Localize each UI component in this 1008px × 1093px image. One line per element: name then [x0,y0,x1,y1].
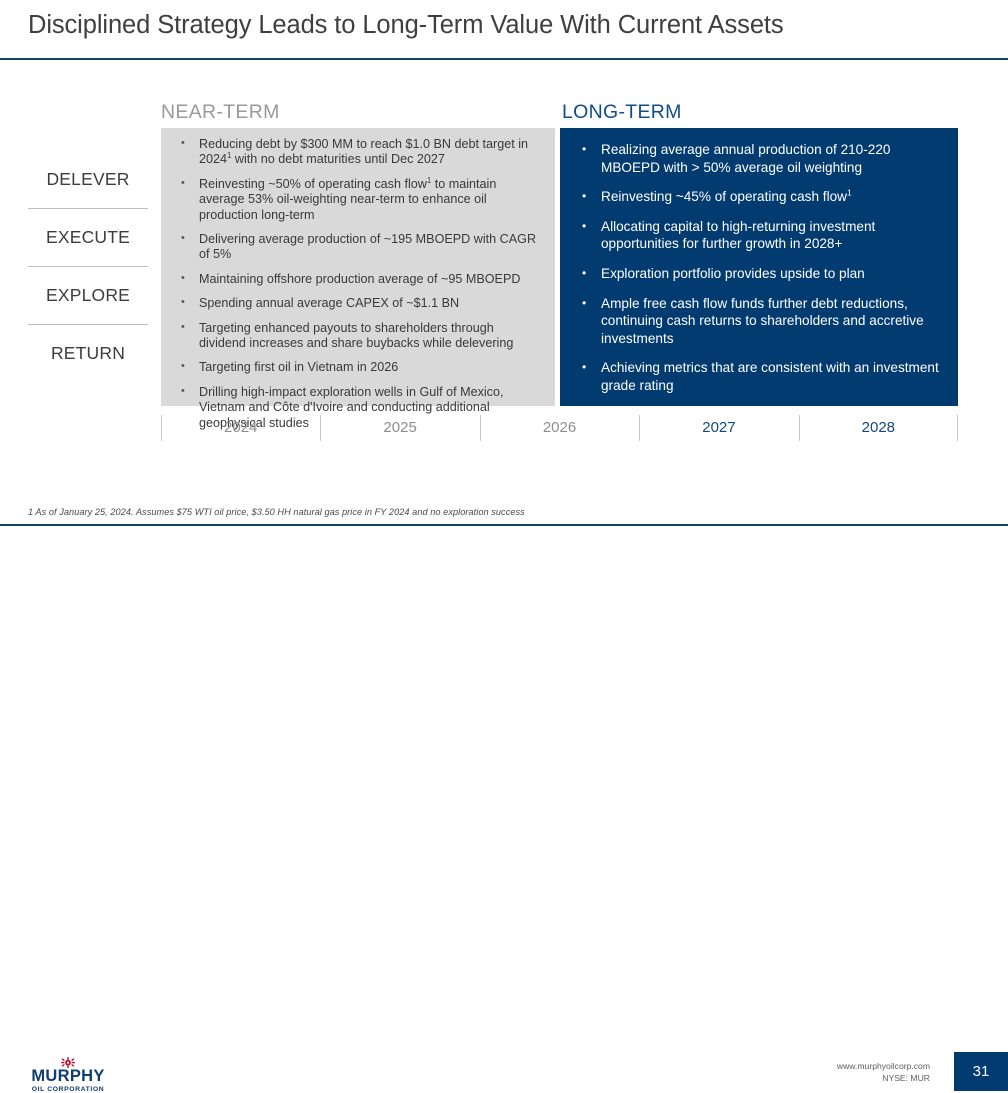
footer-meta: www.murphyoilcorp.com NYSE: MUR [837,1060,930,1084]
timeline-year-2027: 2027 [639,411,798,445]
phase-divider [28,208,148,209]
footer: MURPHY OIL CORPORATION www.murphyoilcorp… [0,526,1008,565]
phase-label-explore: EXPLORE [22,276,154,315]
timeline-year-2025: 2025 [320,411,479,445]
year-timeline: 2024 2025 2026 2027 2028 [161,411,958,445]
footer-ticker: NYSE: MUR [837,1072,930,1084]
phase-divider [28,266,148,267]
list-item: Spending annual average CAPEX of ~$1.1 B… [175,296,541,311]
long-term-bullet-list: Realizing average annual production of 2… [574,137,944,395]
title-divider [0,58,1008,60]
murphy-oil-logo: MURPHY OIL CORPORATION [20,1056,116,1093]
list-item: Ample free cash flow funds further debt … [574,295,944,348]
phase-label-return: RETURN [22,334,154,373]
list-item: Allocating capital to high-returning inv… [574,218,944,253]
timeline-year-2028: 2028 [799,411,958,445]
list-item: Targeting first oil in Vietnam in 2026 [175,360,541,375]
list-item: Reinvesting ~45% of operating cash flow1 [574,188,944,206]
list-item: Realizing average annual production of 2… [574,141,944,176]
logo-wordmark: MURPHY [20,1068,116,1085]
footnote: 1 As of January 25, 2024. Assumes $75 WT… [28,507,525,517]
timeline-end-tick [957,415,958,441]
near-term-heading: NEAR-TERM [161,101,280,124]
timeline-year-2026: 2026 [480,411,639,445]
footer-website: www.murphyoilcorp.com [837,1060,930,1072]
list-item: Achieving metrics that are consistent wi… [574,359,944,394]
list-item: Exploration portfolio provides upside to… [574,265,944,283]
near-term-panel: Reducing debt by $300 MM to reach $1.0 B… [161,128,555,406]
phase-label-column: DELEVER EXECUTE EXPLORE RETURN [22,160,154,373]
list-item: Targeting enhanced payouts to shareholde… [175,321,541,352]
list-item: Reducing debt by $300 MM to reach $1.0 B… [175,137,541,168]
list-item: Delivering average production of ~195 MB… [175,232,541,263]
long-term-panel: Realizing average annual production of 2… [560,128,958,406]
page-number: 31 [954,1052,1008,1091]
list-item: Reinvesting ~50% of operating cash flow1… [175,177,541,223]
near-term-bullet-list: Reducing debt by $300 MM to reach $1.0 B… [175,137,541,431]
long-term-heading: LONG-TERM [562,101,682,124]
star-burst-icon [20,1056,116,1067]
phase-divider [28,324,148,325]
logo-subtext: OIL CORPORATION [20,1087,116,1093]
timeline-year-2024: 2024 [161,411,320,445]
phase-label-delever: DELEVER [22,160,154,199]
phase-label-execute: EXECUTE [22,218,154,257]
list-item: Maintaining offshore production average … [175,272,541,287]
page-title: Disciplined Strategy Leads to Long-Term … [28,11,784,40]
